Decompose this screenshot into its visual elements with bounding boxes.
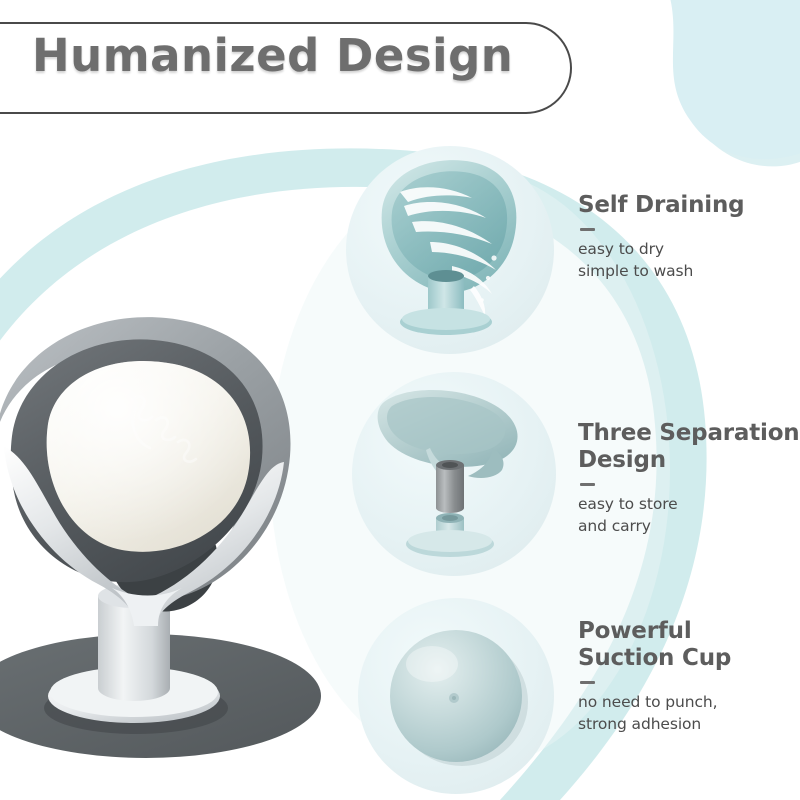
three-separation-illustration (352, 372, 556, 576)
feature-sub-line-2: and carry (578, 515, 800, 537)
feature-text-self-draining: Self Draining easy to dry simple to wash (578, 192, 800, 282)
feature-divider-dash (580, 681, 595, 684)
feature-text-suction-cup: Powerful Suction Cup no need to punch, s… (578, 618, 800, 735)
feature-sub-line-1: no need to punch, (578, 691, 800, 713)
feature-sub-line-1: easy to dry (578, 238, 800, 260)
feature-divider-dash (580, 483, 595, 486)
suction-disc-top (408, 530, 492, 552)
corner-blob-shape (645, 0, 800, 166)
page-title: Humanized Design (32, 33, 572, 78)
feature-title-line-2: Suction Cup (578, 645, 800, 672)
feature-title-line-1: Powerful (578, 618, 800, 645)
main-product-illustration (0, 296, 336, 766)
infographic-canvas: Humanized Design (0, 0, 800, 800)
stem-top-ellipse (428, 270, 464, 282)
corner-blob-shape-2 (660, 0, 800, 159)
feature-circle-self-draining (346, 146, 554, 354)
part-suction-base (406, 513, 522, 557)
feature-text-three-separation: Three Separation Design easy to store an… (578, 420, 800, 537)
feature-title-line-1: Three Separation (578, 420, 800, 447)
suction-cup-illustration (358, 598, 554, 794)
feature-sub-line-1: easy to store (578, 493, 800, 515)
cup-highlight (406, 646, 458, 682)
feature-title-line-2: Design (578, 447, 800, 474)
feature-circle-suction-cup (358, 598, 554, 794)
self-draining-illustration (346, 146, 554, 354)
feature-circle-three-separation (352, 372, 556, 576)
part-metal-stem (436, 460, 464, 513)
cup-center-dot (452, 696, 456, 700)
soap-bar (47, 361, 250, 552)
feature-divider-dash (580, 228, 595, 231)
feature-sub-line-2: strong adhesion (578, 713, 800, 735)
suction-base-top (402, 308, 490, 330)
feature-sub-line-2: simple to wash (578, 260, 800, 282)
feature-title-self-draining: Self Draining (578, 192, 800, 219)
